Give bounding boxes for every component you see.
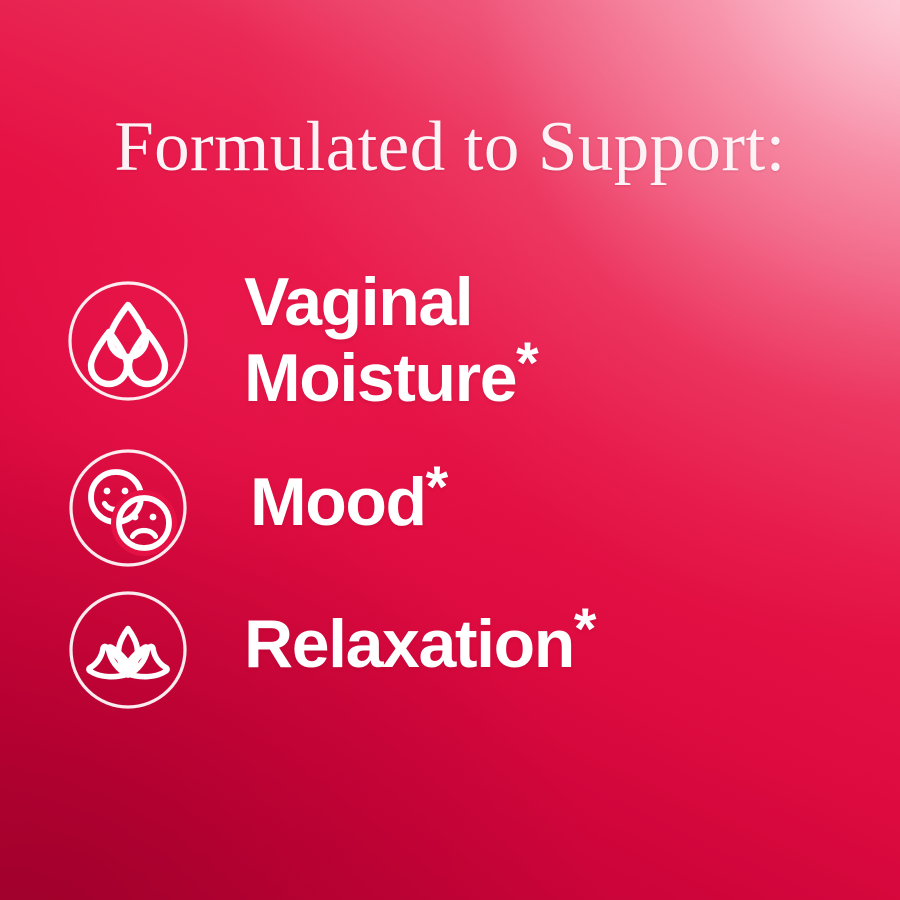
- benefit-label-line1: Relaxation: [244, 606, 574, 682]
- footnote-marker: *: [516, 331, 539, 396]
- benefit-label-mood: Mood*: [192, 460, 854, 536]
- smiley-sad-faces-icon: [64, 444, 192, 572]
- list-item: Mood*: [64, 430, 854, 580]
- benefit-label-line1: Mood: [250, 464, 426, 540]
- footnote-marker: *: [574, 597, 597, 662]
- water-droplets-icon: [64, 277, 192, 405]
- benefit-label-line2: Moisture: [244, 340, 516, 416]
- benefit-label-moisture: Vaginal Moisture*: [192, 269, 854, 411]
- promo-poster: Formulated to Support: Vaginal Moisture*: [0, 0, 900, 900]
- benefit-label-line1: Vaginal: [244, 264, 472, 340]
- benefit-label-relaxation: Relaxation*: [192, 602, 854, 678]
- page-title: Formulated to Support:: [0, 112, 900, 183]
- list-item: Vaginal Moisture*: [64, 262, 854, 430]
- benefits-list: Vaginal Moisture*: [64, 262, 854, 730]
- footnote-marker: *: [426, 455, 449, 520]
- lotus-flower-icon: [64, 586, 192, 714]
- list-item: Relaxation*: [64, 580, 854, 730]
